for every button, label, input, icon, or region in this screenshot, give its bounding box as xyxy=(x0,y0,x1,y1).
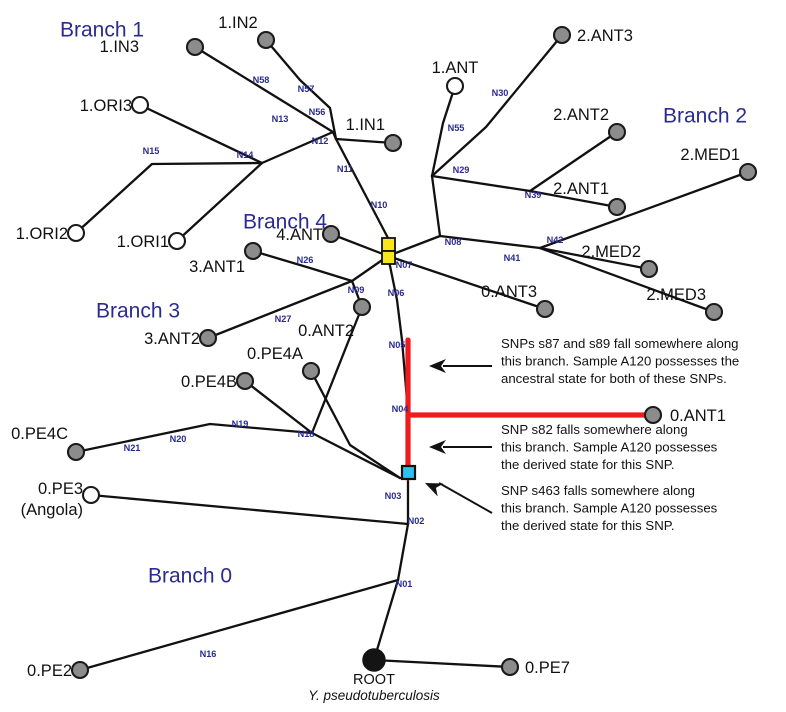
tip-label-0-pe4a: 0.PE4A xyxy=(247,345,303,363)
tree-edge xyxy=(374,660,510,667)
internal-node-label-n39: N39 xyxy=(525,190,542,200)
internal-node-label-n41: N41 xyxy=(504,253,521,263)
tip-node-2-med2[interactable] xyxy=(641,261,657,277)
internal-node-label-n02: N02 xyxy=(408,516,425,526)
tree-canvas: 1.IN31.IN21.ORI31.ORI21.ORI11.IN11.ANT2.… xyxy=(0,0,786,712)
tip-node-0-ant1[interactable] xyxy=(645,407,661,423)
tip-node-1-ori3[interactable] xyxy=(132,97,148,113)
tip-node-0-pe3[interactable] xyxy=(83,487,99,503)
tip-node-2-med1[interactable] xyxy=(740,164,756,180)
tip-node-2-ant2[interactable] xyxy=(609,124,625,140)
tip-label-0-ant3: 0.ANT3 xyxy=(481,283,537,301)
tip-label-0-pe4c: 0.PE4C xyxy=(11,425,68,443)
annotation-arrow-head xyxy=(425,483,443,496)
branch-label-branch-2: Branch 2 xyxy=(663,104,747,127)
tip-label-3-ant1: 3.ANT1 xyxy=(189,258,245,276)
tree-edge xyxy=(245,381,312,433)
tip-label-1-ant: 1.ANT xyxy=(432,59,479,77)
tip-node-0-pe4c[interactable] xyxy=(68,444,84,460)
tip-label-2-ant1: 2.ANT1 xyxy=(553,180,609,198)
tree-edge xyxy=(80,580,398,670)
tip-node-0-pe2[interactable] xyxy=(72,662,88,678)
internal-node-label-n01: N01 xyxy=(396,579,413,589)
internal-node-label-n30: N30 xyxy=(492,88,509,98)
internal-node-label-n10: N10 xyxy=(371,200,388,210)
branch-label-branch-0: Branch 0 xyxy=(148,564,232,587)
internal-node-label-n15: N15 xyxy=(143,146,160,156)
tip-node-1-ori1[interactable] xyxy=(169,233,185,249)
tip-label-2-ant2: 2.ANT2 xyxy=(553,106,609,124)
tip-node-1-in2[interactable] xyxy=(258,32,274,48)
internal-node-label-n14: N14 xyxy=(237,150,255,160)
tree-edge xyxy=(432,35,562,176)
tip-node-2-ant3[interactable] xyxy=(554,27,570,43)
tip-label-0-pe7: 0.PE7 xyxy=(525,659,570,677)
tip-sublabel-angola: (Angola) xyxy=(21,501,83,519)
tip-label-1-ori1: 1.ORI1 xyxy=(117,233,169,251)
tree-edge xyxy=(331,234,388,256)
internal-node-label-n56: N56 xyxy=(309,107,326,117)
tip-label-2-med3: 2.MED3 xyxy=(646,286,706,304)
tree-edge xyxy=(432,176,440,236)
internal-node-label-n05: N05 xyxy=(389,340,406,350)
tip-node-2-med3[interactable] xyxy=(706,304,722,320)
internal-node-label-n42: N42 xyxy=(547,235,564,245)
tip-label-0-pe2: 0.PE2 xyxy=(27,662,72,680)
internal-node-label-n04: N04 xyxy=(392,404,410,414)
annot-s82-line-2: this branch. Sample A120 possesses xyxy=(501,440,718,455)
tree-edge xyxy=(91,495,408,524)
annot-s87-s89-line-1: SNPs s87 and s89 fall somewhere along xyxy=(501,336,739,351)
tip-label-0-pe3: 0.PE3 xyxy=(38,480,83,498)
annot-s463-line-2: this branch. Sample A120 possesses xyxy=(501,501,718,516)
tree-edge xyxy=(374,580,398,660)
internal-node-label-n13: N13 xyxy=(272,114,289,124)
tip-node-0-pe4b[interactable] xyxy=(237,373,253,389)
internal-node-label-n18: N18 xyxy=(298,429,315,439)
internal-node-label-n07: N07 xyxy=(396,260,413,270)
annot-s82-line-1: SNP s82 falls somewhere along xyxy=(501,422,688,437)
tip-label-1-in2: 1.IN2 xyxy=(218,14,257,32)
marker-blue[interactable] xyxy=(402,466,415,479)
annot-s463-line-1: SNP s463 falls somewhere along xyxy=(501,483,695,498)
internal-node-label-n16: N16 xyxy=(200,649,217,659)
branch-label-branch-3: Branch 3 xyxy=(96,299,180,322)
tip-node-1-in3[interactable] xyxy=(187,39,203,55)
internal-node-label-n08: N08 xyxy=(445,237,462,247)
annot-s87-s89-line-3: ancestral state for both of these SNPs. xyxy=(501,371,727,386)
tip-node-0-ant3[interactable] xyxy=(537,301,553,317)
phylogenetic-tree-figure: 1.IN31.IN21.ORI31.ORI21.ORI11.IN11.ANT2.… xyxy=(0,0,786,712)
branch-label-branch-4: Branch 4 xyxy=(243,210,327,233)
internal-node-label-n11: N11 xyxy=(337,164,353,174)
root-species-label: Y. pseudotuberculosis xyxy=(308,688,440,703)
tip-node-2-ant1[interactable] xyxy=(609,199,625,215)
root-node[interactable] xyxy=(363,649,385,671)
internal-node-label-n03: N03 xyxy=(385,491,402,501)
tree-edge xyxy=(76,163,262,233)
internal-node-label-n58: N58 xyxy=(253,75,270,85)
tip-label-0-pe4b: 0.PE4B xyxy=(181,373,237,391)
tip-node-3-ant1[interactable] xyxy=(245,243,261,259)
annot-s463-line-3: the derived state for this SNP. xyxy=(501,518,674,533)
tree-edge xyxy=(336,139,388,238)
marker-yellow-upper[interactable] xyxy=(382,238,395,251)
tip-label-2-med1: 2.MED1 xyxy=(680,146,740,164)
tip-label-2-ant3: 2.ANT3 xyxy=(577,27,633,45)
tree-edge xyxy=(398,524,408,580)
annotation-arrows xyxy=(425,359,492,513)
tip-node-0-pe4a[interactable] xyxy=(303,363,319,379)
tip-node-3-ant2[interactable] xyxy=(200,330,216,346)
internal-node-label-n21: N21 xyxy=(124,443,141,453)
internal-node-label-n19: N19 xyxy=(232,419,249,429)
tip-label-1-in1: 1.IN1 xyxy=(346,116,385,134)
annotation-texts: SNPs s87 and s89 fall somewhere alongthi… xyxy=(501,336,739,533)
tip-label-2-med2: 2.MED2 xyxy=(581,243,641,261)
tip-label-0-ant2: 0.ANT2 xyxy=(298,322,354,340)
tip-node-1-ori2[interactable] xyxy=(68,225,84,241)
internal-node-label-n55: N55 xyxy=(448,123,465,133)
tip-label-3-ant2: 3.ANT2 xyxy=(144,330,200,348)
internal-node-label-n26: N26 xyxy=(297,255,314,265)
internal-node-label-n27: N27 xyxy=(275,314,292,324)
tip-label-1-ori3: 1.ORI3 xyxy=(80,97,132,115)
annot-s82-line-3: the derived state for this SNP. xyxy=(501,457,674,472)
internal-node-label-n09: N09 xyxy=(348,285,365,295)
tip-node-1-ant[interactable] xyxy=(447,78,463,94)
tip-node-0-pe7[interactable] xyxy=(502,659,518,675)
tree-edge xyxy=(311,371,400,478)
annot-s87-s89-line-2: this branch. Sample A120 possesses the xyxy=(501,354,739,369)
internal-node-label-n57: N57 xyxy=(298,84,315,94)
root-label: ROOT xyxy=(353,672,395,688)
annotation-arrow-line xyxy=(439,483,492,513)
branch-label-branch-1: Branch 1 xyxy=(60,18,144,41)
internal-node-label-n06: N06 xyxy=(388,288,405,298)
internal-node-label-n20: N20 xyxy=(170,434,187,444)
marker-yellow-lower[interactable] xyxy=(382,251,395,264)
tree-edge xyxy=(76,424,312,452)
internal-node-label-n29: N29 xyxy=(453,165,470,175)
tip-node-0-ant2[interactable] xyxy=(354,299,370,315)
root-group: ROOTY. pseudotuberculosis xyxy=(308,649,440,703)
tip-node-1-in1[interactable] xyxy=(385,135,401,151)
internal-node-label-n12: N12 xyxy=(312,136,329,146)
tip-label-1-ori2: 1.ORI2 xyxy=(16,225,68,243)
